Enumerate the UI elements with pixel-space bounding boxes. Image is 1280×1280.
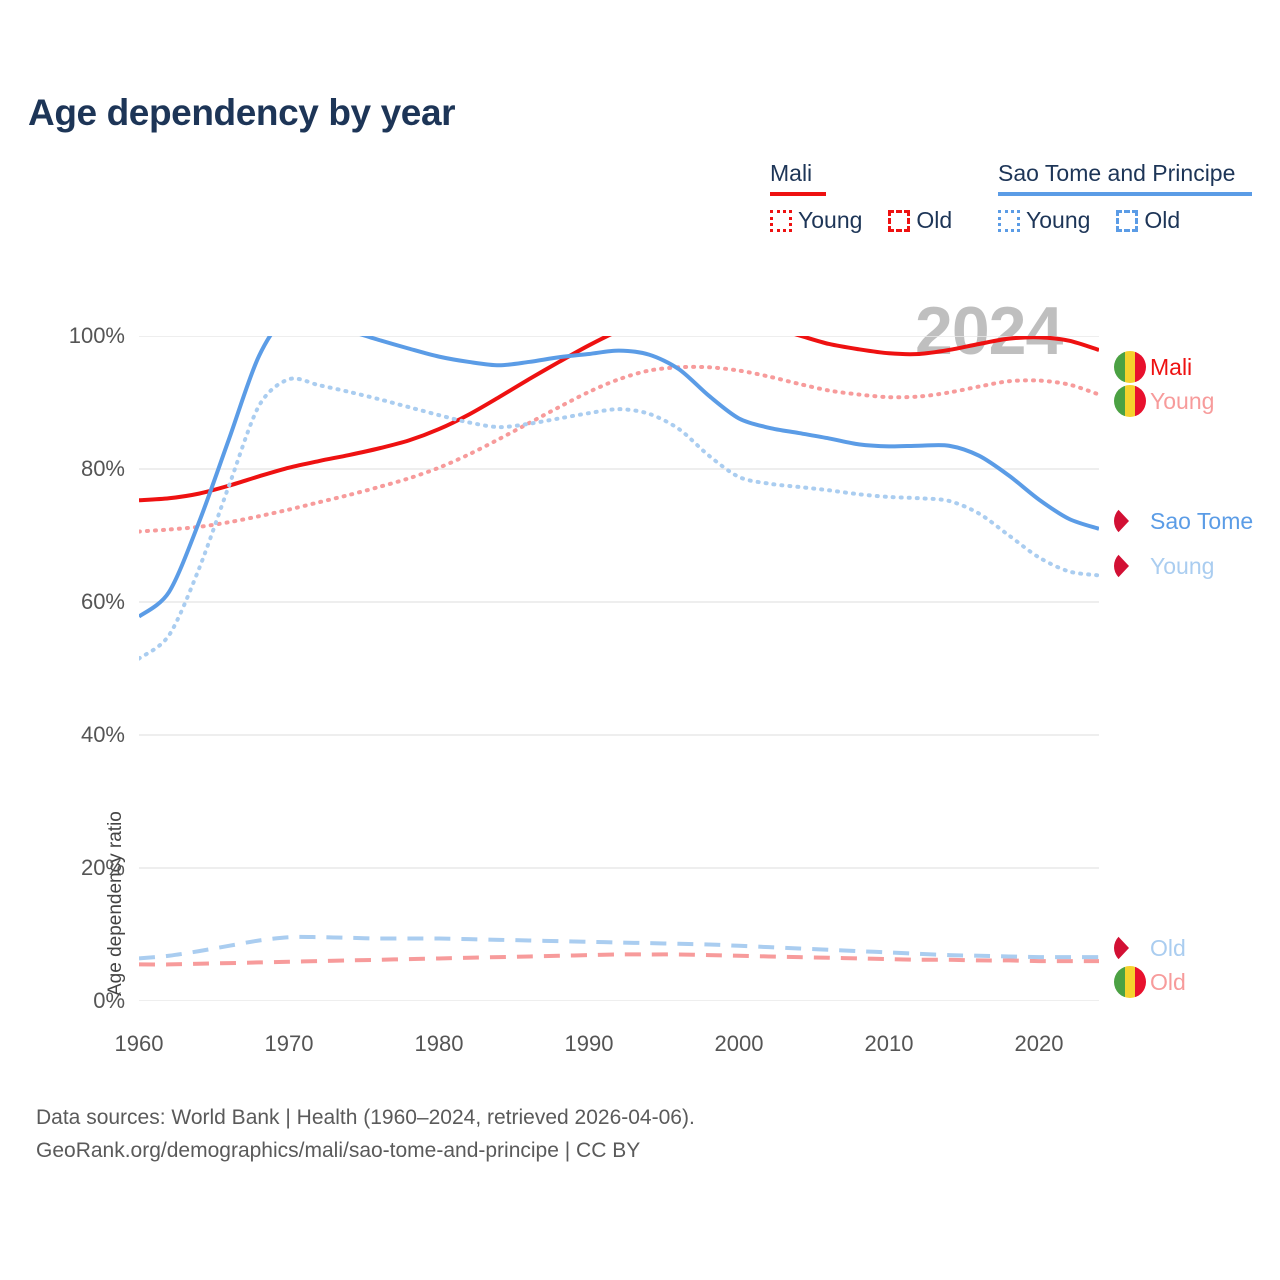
sao-tome-flag-icon: ★★	[1114, 550, 1146, 582]
y-tick-label: 0%	[15, 988, 125, 1014]
chart-plot-area: Age dependency ratio	[139, 336, 1099, 1001]
dotted-square-swatch-icon	[770, 210, 792, 232]
footer: Data sources: World Bank | Health (1960–…	[36, 1106, 695, 1172]
legend-group-sao-tome-and-principe: Sao Tome and Principe Young Old	[998, 160, 1252, 234]
dashed-square-swatch-icon	[888, 210, 910, 232]
legend-item-stp-young[interactable]: Young	[998, 207, 1090, 234]
legend-label-stp-old: Old	[1144, 207, 1180, 234]
legend-rule-sao-tome-and-principe	[998, 192, 1252, 196]
x-tick-label: 1980	[379, 1031, 499, 1057]
x-tick-label: 1960	[79, 1031, 199, 1057]
page-title: Age dependency by year	[28, 92, 455, 134]
y-tick-label: 60%	[15, 589, 125, 615]
series-end-label-text: Young	[1150, 553, 1214, 580]
series-end-label: ★★Young	[1114, 550, 1214, 582]
legend-label-stp-young: Young	[1026, 207, 1090, 234]
legend-item-mali-old[interactable]: Old	[888, 207, 952, 234]
series-line-sao-tome-and-principe-old	[139, 937, 1099, 959]
legend-label-mali-young: Young	[798, 207, 862, 234]
mali-flag-icon	[1114, 966, 1146, 998]
y-tick-label: 100%	[15, 323, 125, 349]
series-end-label: Old	[1114, 966, 1186, 998]
legend-country-name-sao-tome-and-principe[interactable]: Sao Tome and Principe	[998, 160, 1252, 190]
series-end-label-text: Old	[1150, 969, 1186, 996]
x-tick-label: 2020	[979, 1031, 1099, 1057]
x-tick-label: 2010	[829, 1031, 949, 1057]
x-tick-label: 1970	[229, 1031, 349, 1057]
dashed-square-swatch-icon	[1116, 210, 1138, 232]
series-end-label-text: Old	[1150, 935, 1186, 962]
chart-svg	[139, 336, 1099, 1001]
series-end-label-text: Sao Tome	[1150, 508, 1253, 535]
series-line-sao-tome-and-principe	[139, 336, 1099, 617]
y-tick-label: 80%	[15, 456, 125, 482]
legend-group-mali: Mali Young Old	[770, 160, 952, 234]
footer-line-sources: Data sources: World Bank | Health (1960–…	[36, 1106, 695, 1130]
y-tick-label: 20%	[15, 855, 125, 881]
legend-country-name-mali[interactable]: Mali	[770, 160, 952, 190]
series-end-label: ★★Old	[1114, 932, 1186, 964]
y-axis-title: Age dependency ratio	[105, 811, 127, 996]
legend-item-mali-young[interactable]: Young	[770, 207, 862, 234]
series-end-label-text: Young	[1150, 388, 1214, 415]
series-line-mali	[139, 336, 1099, 500]
mali-flag-icon	[1114, 385, 1146, 417]
y-tick-label: 40%	[15, 722, 125, 748]
x-tick-label: 1990	[529, 1031, 649, 1057]
legend-label-mali-old: Old	[916, 207, 952, 234]
x-tick-label: 2000	[679, 1031, 799, 1057]
series-end-label: Young	[1114, 385, 1214, 417]
series-end-label-text: Mali	[1150, 354, 1192, 381]
legend-rule-mali	[770, 192, 826, 196]
series-end-label: ★★Sao Tome	[1114, 505, 1253, 537]
series-line-sao-tome-and-principe-young	[139, 378, 1099, 658]
footer-line-attribution: GeoRank.org/demographics/mali/sao-tome-a…	[36, 1139, 695, 1163]
series-line-mali-young	[139, 367, 1099, 532]
series-end-label: Mali	[1114, 351, 1192, 383]
sao-tome-flag-icon: ★★	[1114, 505, 1146, 537]
legend-item-stp-old[interactable]: Old	[1116, 207, 1180, 234]
dotted-square-swatch-icon	[998, 210, 1020, 232]
mali-flag-icon	[1114, 351, 1146, 383]
sao-tome-flag-icon: ★★	[1114, 932, 1146, 964]
